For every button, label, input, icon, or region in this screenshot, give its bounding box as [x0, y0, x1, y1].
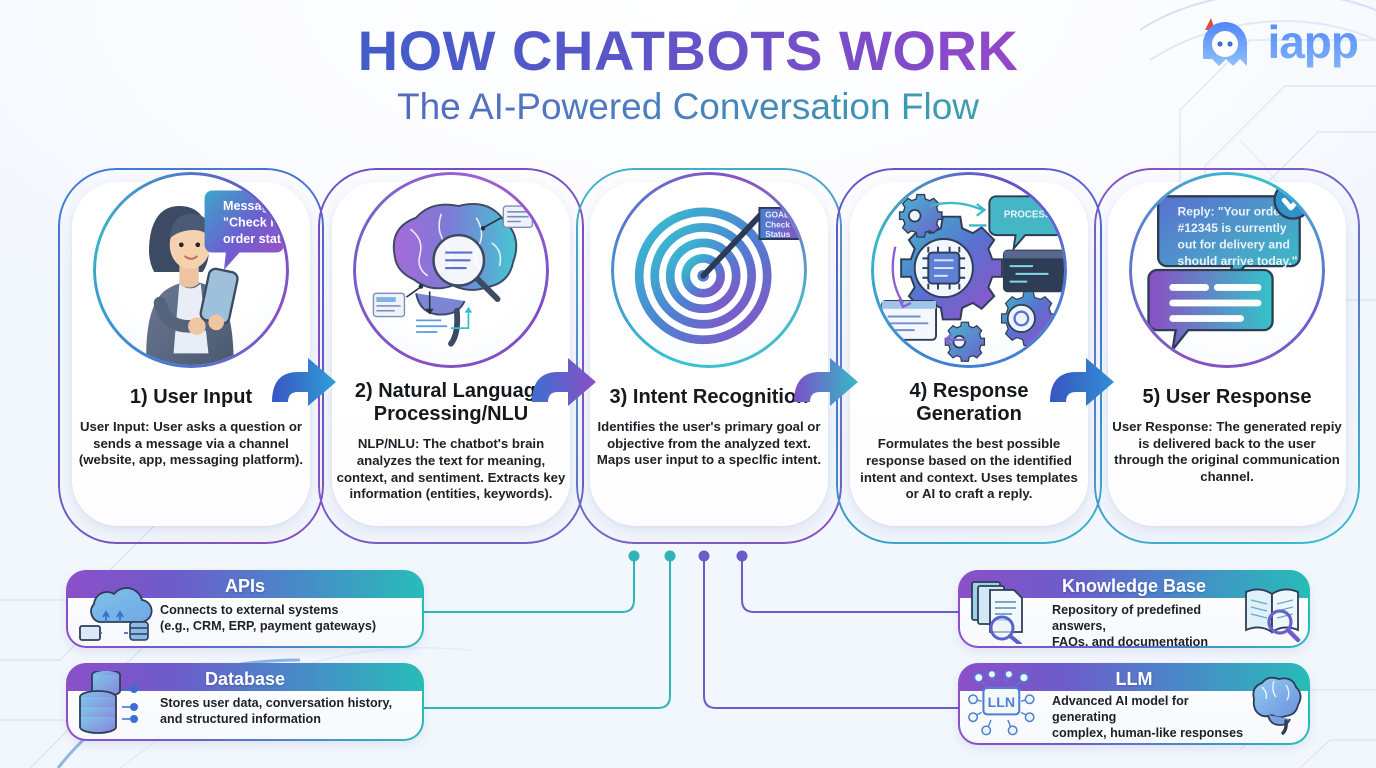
- open-book-with-magnifier-icon: [1242, 580, 1304, 642]
- brain-icon: [1242, 673, 1304, 735]
- small-gear-top: [900, 195, 942, 237]
- step-text-user-response: 5) User Response User Response: The gene…: [1112, 386, 1342, 486]
- flow-arrow-4: [1046, 346, 1116, 406]
- panel-apis[interactable]: APIs Connects to external systems (e.g.,…: [66, 570, 424, 648]
- llm-chip-label: LLN: [988, 694, 1015, 710]
- process-steps: Message: "Check my order status." 1) Use…: [0, 168, 1376, 548]
- logo-wordmark: iapp: [1267, 15, 1358, 69]
- step-illustration-response: PROCESSING...: [871, 172, 1067, 368]
- small-gear-bottom: [945, 322, 984, 361]
- svg-text:#12345 is currently: #12345 is currently: [1178, 221, 1287, 235]
- panel-body: Knowledge Base Repository of predefined …: [960, 572, 1308, 646]
- panel-knowledge-base[interactable]: Knowledge Base Repository of predefined …: [958, 570, 1310, 648]
- page-subtitle: The AI-Powered Conversation Flow: [0, 87, 1376, 128]
- bubble-line-3: order status.": [223, 232, 286, 246]
- connector-dot: [737, 551, 748, 562]
- step-title: 5) User Response: [1112, 386, 1342, 409]
- brand-logo[interactable]: iapp: [1199, 14, 1358, 70]
- panel-description: Stores user data, conversation history, …: [160, 695, 408, 727]
- connector-dot: [665, 551, 676, 562]
- infographic-canvas: HOW CHATBOTS WORK The AI-Powered Convers…: [0, 0, 1376, 768]
- chat-bubbles-with-check-icon: Reply: "Your order #12345 is currently o…: [1132, 172, 1322, 368]
- panel-description: Connects to external systems (e.g., CRM,…: [160, 602, 408, 634]
- svg-text:Status: Status: [765, 230, 791, 239]
- header: HOW CHATBOTS WORK The AI-Powered Convers…: [0, 22, 1376, 128]
- step-description: User Input: User asks a question or send…: [76, 419, 306, 469]
- panel-database[interactable]: Database Stores user data, conversation …: [66, 663, 424, 741]
- flow-arrow-1: [268, 346, 338, 406]
- step-illustration-nlp: [353, 172, 549, 368]
- svg-text:GOAL:: GOAL:: [765, 211, 791, 220]
- svg-text:Reply: "Your order: Reply: "Your order: [1178, 205, 1285, 219]
- page-title: HOW CHATBOTS WORK: [0, 22, 1376, 79]
- connector-dot: [699, 551, 710, 562]
- step-illustration-user-input: Message: "Check my order status.": [93, 172, 289, 368]
- target-bullseye-with-flag-icon: GOAL: Check Order Status: [614, 172, 804, 368]
- documents-with-magnifier-icon: [968, 578, 1046, 644]
- step-illustration-user-response: Reply: "Your order #12345 is currently o…: [1129, 172, 1325, 368]
- step-description: NLP/NLU: The chatbot's brain analyzes th…: [336, 436, 566, 503]
- cloud-integration-icon: [76, 578, 154, 644]
- step-description: Formulates the best possible response ba…: [854, 436, 1084, 503]
- woman-with-smartphone-icon: Message: "Check my order status.": [96, 172, 286, 368]
- chatbot-mascot-icon: [1199, 14, 1259, 70]
- step-description: Identifies the user's primary goal or ob…: [594, 419, 824, 469]
- panel-body: APIs Connects to external systems (e.g.,…: [68, 572, 422, 646]
- database-stack-icon: [76, 671, 154, 737]
- panel-llm[interactable]: LLM Advanced AI model for generating com…: [958, 663, 1310, 745]
- code-window: [1004, 251, 1064, 292]
- flow-arrow-3: [790, 346, 860, 406]
- panel-body: LLM Advanced AI model for generating com…: [960, 665, 1308, 743]
- brain-with-magnifier-icon: [356, 172, 546, 368]
- svg-text:out for delivery and: out for delivery and: [1178, 238, 1290, 252]
- connector-dot: [629, 551, 640, 562]
- panel-body: Database Stores user data, conversation …: [68, 665, 422, 739]
- step-card-user-response[interactable]: Reply: "Your order #12345 is currently o…: [1094, 168, 1360, 544]
- panel-description: Repository of predefined answers, FAQs, …: [1052, 602, 1246, 646]
- panel-description: Advanced AI model for generating complex…: [1052, 693, 1246, 743]
- gears-with-chip-icon: PROCESSING...: [874, 172, 1064, 368]
- svg-text:should arrive today.": should arrive today.": [1178, 254, 1298, 268]
- secondary-bubble: [1148, 270, 1272, 349]
- step-description: User Response: The generated repiy is de…: [1112, 419, 1342, 486]
- neural-network-chip-icon: LLN: [968, 671, 1046, 737]
- flow-arrow-2: [528, 346, 598, 406]
- step-illustration-intent: GOAL: Check Order Status: [611, 172, 807, 368]
